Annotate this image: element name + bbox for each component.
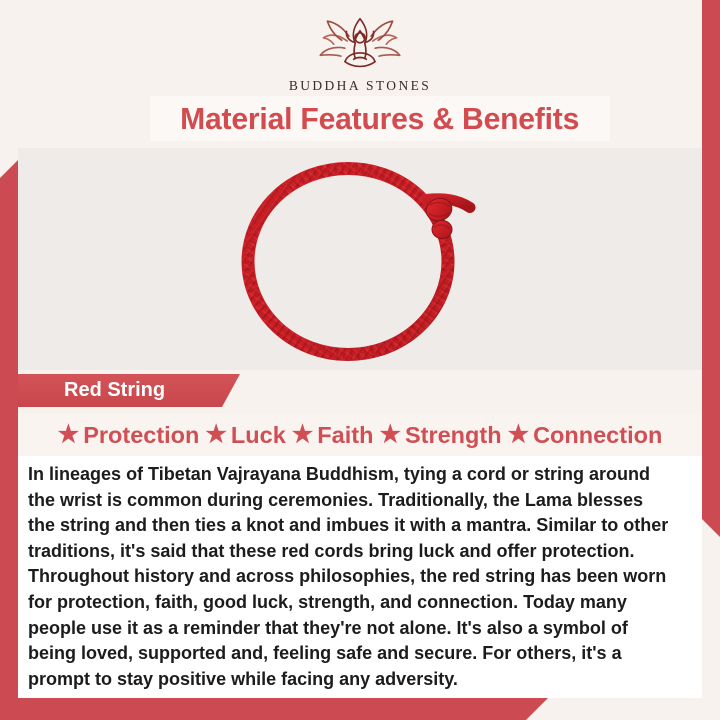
product-name-ribbon: Red String [18,374,240,407]
star-icon: ★ [292,423,314,447]
brand-name: BUDDHA STONES [289,78,431,94]
star-icon: ★ [205,423,227,447]
keyword-label: Protection [83,422,199,449]
product-photo [18,148,702,370]
description-block: In lineages of Tibetan Vajrayana Buddhis… [18,456,702,698]
ribbon-label: Red String [64,379,165,402]
star-icon: ★ [508,423,530,447]
keyword-protection: ★ Protection [58,422,200,449]
frame-right-accent-bar [702,0,720,537]
description-text: In lineages of Tibetan Vajrayana Buddhis… [28,462,673,692]
page-title: Material Features & Benefits [181,101,580,137]
lotus-meditation-figure-icon [312,14,408,76]
keyword-connection: ★ Connection [508,422,663,449]
keyword-label: Faith [317,422,373,449]
benefit-keyword-row: ★ Protection ★ Luck ★ Faith ★ Strength ★… [18,414,702,456]
keyword-luck: ★ Luck [205,422,285,449]
infographic-page: BUDDHA STONES Material Features & Benefi… [0,0,720,720]
frame-left-accent-bar [0,160,18,720]
keyword-label: Strength [405,422,502,449]
title-banner: Material Features & Benefits [150,96,610,141]
keyword-label: Connection [533,422,662,449]
star-icon: ★ [379,423,401,447]
red-braided-string-bracelet-illustration [220,152,500,367]
keyword-strength: ★ Strength [379,422,501,449]
keyword-faith: ★ Faith [292,422,374,449]
keyword-label: Luck [231,422,286,449]
frame-bottom-accent-bar [0,698,548,720]
brand-logo: BUDDHA STONES [289,14,431,94]
star-icon: ★ [58,423,80,447]
